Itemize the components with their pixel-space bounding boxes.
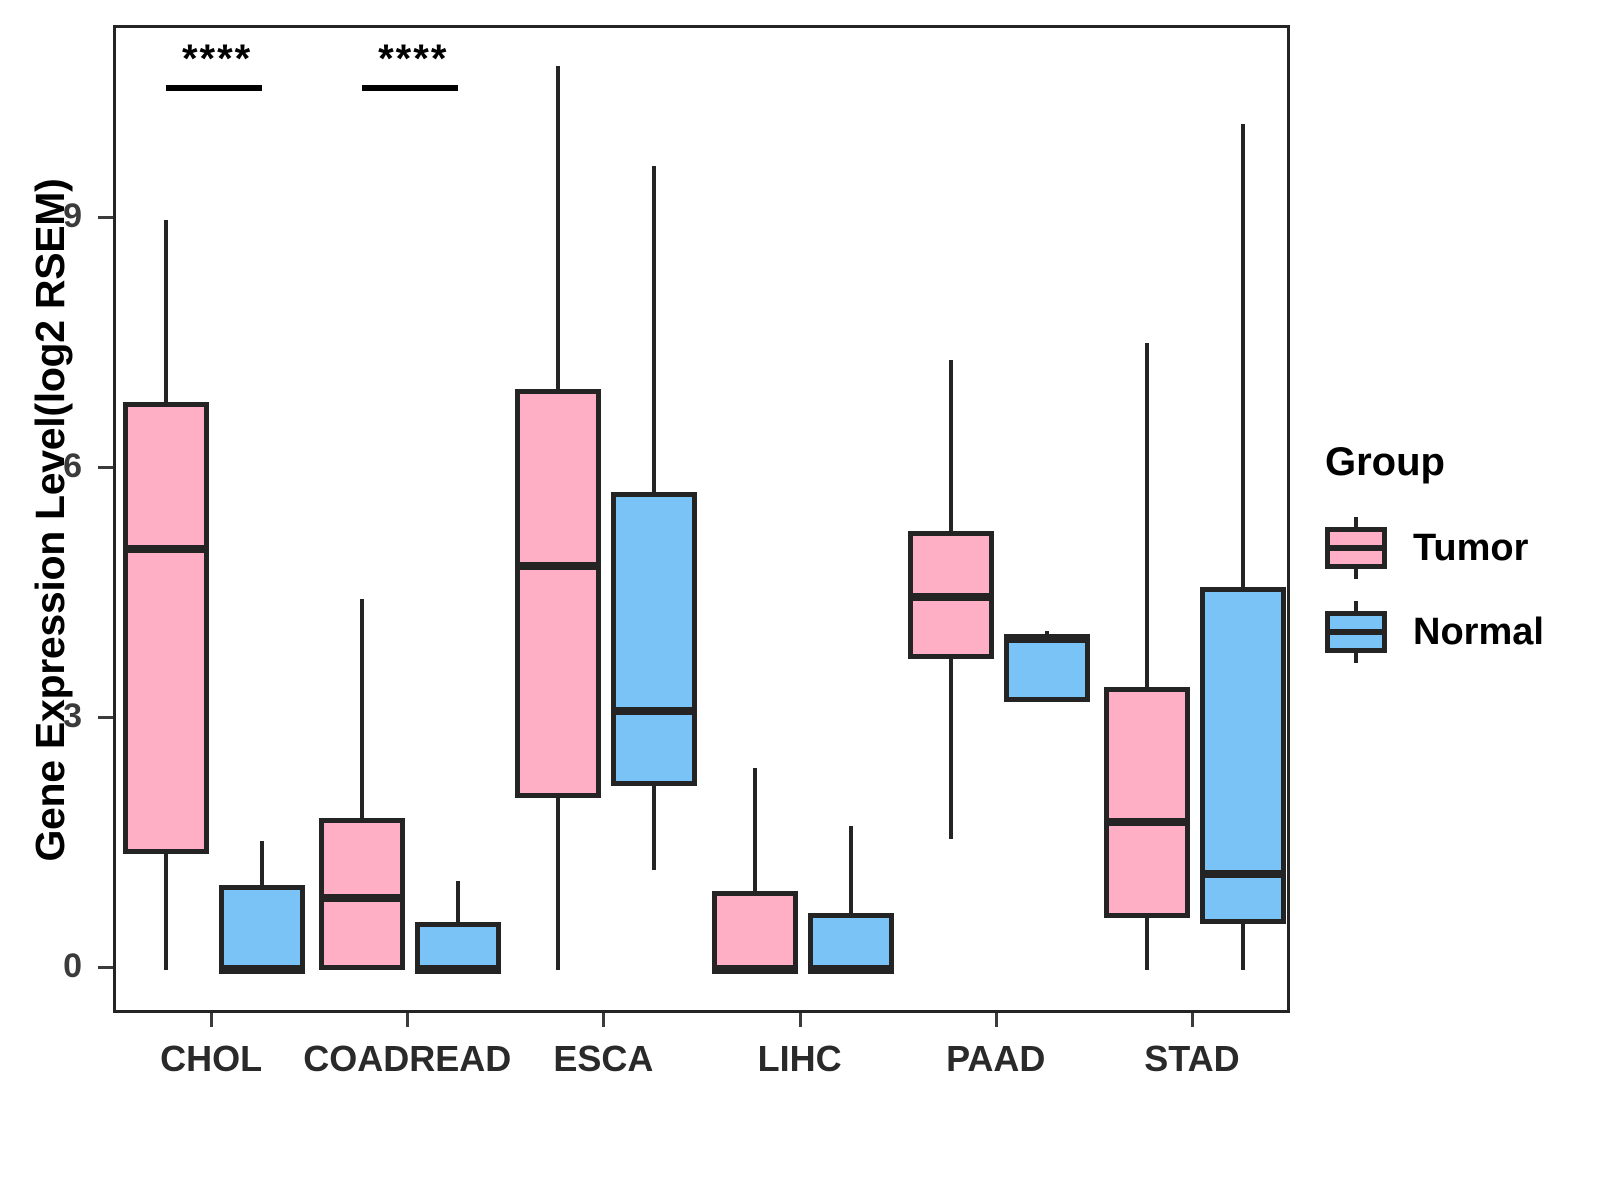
median-line <box>123 545 209 553</box>
x-axis-tick-label-stad: STAD <box>1144 1038 1239 1080</box>
whisker-upper <box>1241 124 1245 587</box>
median-line <box>1200 870 1286 878</box>
plot-panel: ******** <box>113 25 1290 1013</box>
median-line <box>319 894 405 902</box>
x-axis-tick-mark <box>406 1013 409 1027</box>
y-axis-tick-mark <box>98 716 113 719</box>
x-axis-tick-label-chol: CHOL <box>160 1038 262 1080</box>
x-axis-tick-mark <box>995 1013 998 1027</box>
y-axis-tick-label: 9 <box>22 197 82 236</box>
legend-median <box>1325 545 1387 551</box>
whisker-upper <box>164 220 168 402</box>
box-chol-tumor[interactable] <box>123 402 209 855</box>
box-lihc-tumor[interactable] <box>712 891 798 970</box>
median-line <box>515 562 601 570</box>
whisker-lower <box>1145 918 1149 970</box>
significance-bar <box>362 85 458 91</box>
median-line <box>611 707 697 715</box>
whisker-upper <box>360 599 364 818</box>
significance-label: **** <box>182 37 252 82</box>
whisker-upper <box>556 66 560 389</box>
legend-entries: TumorNormal <box>1325 509 1595 671</box>
whisker-upper <box>1145 343 1149 687</box>
box-paad-normal[interactable] <box>1004 634 1090 702</box>
whisker-upper <box>456 881 460 922</box>
whisker-upper <box>849 826 853 914</box>
x-axis-tick-label-lihc: LIHC <box>758 1038 842 1080</box>
whisker-upper <box>652 166 656 493</box>
median-line <box>712 966 798 974</box>
median-line <box>808 966 894 974</box>
y-axis-tick-mark <box>98 966 113 969</box>
plot-area: ******** <box>116 28 1287 1010</box>
x-axis-tick-mark <box>1191 1013 1194 1027</box>
box-lihc-normal[interactable] <box>808 913 894 970</box>
median-line <box>219 966 305 974</box>
x-axis-tick-mark <box>799 1013 802 1027</box>
significance-label: **** <box>378 37 448 82</box>
legend-key-normal <box>1325 601 1387 663</box>
y-axis-tick-label: 3 <box>22 697 82 736</box>
whisker-upper <box>260 841 264 885</box>
legend-item-normal[interactable]: Normal <box>1325 593 1595 671</box>
whisker-lower <box>164 854 168 970</box>
legend-key-tumor <box>1325 517 1387 579</box>
x-axis-tick-mark <box>602 1013 605 1027</box>
box-coadread-normal[interactable] <box>415 922 501 970</box>
whisker-upper <box>753 768 757 891</box>
x-axis-tick-label-paad: PAAD <box>946 1038 1045 1080</box>
legend-title: Group <box>1325 440 1595 485</box>
x-axis-tick-mark <box>210 1013 213 1027</box>
y-axis-tick-label: 6 <box>22 447 82 486</box>
box-esca-tumor[interactable] <box>515 389 601 798</box>
whisker-lower <box>949 659 953 839</box>
legend: Group TumorNormal <box>1325 440 1595 677</box>
legend-median <box>1325 629 1387 635</box>
y-axis-tick-mark <box>98 466 113 469</box>
legend-label: Tumor <box>1413 527 1528 570</box>
whisker-lower <box>652 786 656 870</box>
box-chol-normal[interactable] <box>219 885 305 970</box>
box-stad-tumor[interactable] <box>1104 687 1190 919</box>
median-line <box>1004 635 1090 643</box>
x-axis-tick-label-esca: ESCA <box>553 1038 653 1080</box>
median-line <box>1104 818 1190 826</box>
whisker-upper <box>949 360 953 531</box>
y-axis-tick-mark <box>98 216 113 219</box>
legend-label: Normal <box>1413 611 1544 654</box>
legend-item-tumor[interactable]: Tumor <box>1325 509 1595 587</box>
significance-bar <box>166 85 262 91</box>
box-esca-normal[interactable] <box>611 492 697 785</box>
whisker-lower <box>556 798 560 970</box>
x-axis-tick-label-coadread: COADREAD <box>303 1038 511 1080</box>
median-line <box>908 593 994 601</box>
y-axis-tick-label: 0 <box>22 947 82 986</box>
chart-root: Gene Expression Level(log2 RSEM) 0369 **… <box>0 0 1600 1200</box>
whisker-lower <box>1241 924 1245 970</box>
median-line <box>415 966 501 974</box>
